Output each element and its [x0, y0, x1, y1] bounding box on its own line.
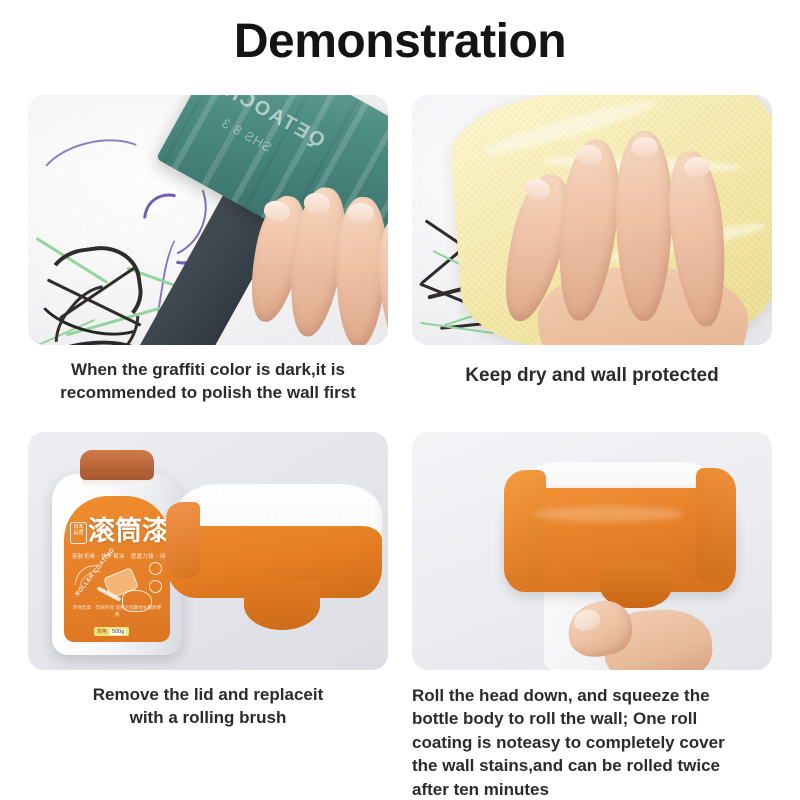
label-footer: 环保无毒 · 无味环保 适用于墙面修补翻新使用 [72, 606, 162, 620]
panel-wipe-caption: Keep dry and wall protected [412, 363, 772, 389]
roller-stem [244, 580, 320, 630]
fingernail [348, 203, 375, 224]
bottle-label: 日本 品质 滚筒漆 亲肤无味 · 快干易涂 · 遮盖力强 · 持久不脱落 ROL… [64, 496, 170, 642]
roller-cradle-lip [504, 470, 546, 588]
label-features: 亲肤无味 · 快干易涂 · 遮盖力强 · 持久不脱落 [72, 552, 164, 560]
roller-cradle-lip [696, 468, 736, 582]
caption-line: after ten minutes [412, 778, 772, 800]
caption-line: Keep dry and wall protected [412, 363, 772, 389]
caption-line: Remove the lid and replaceit [28, 684, 388, 707]
weight-badge: 规格 500g [94, 627, 129, 636]
label-badge: 日本 品质 [70, 522, 87, 544]
panel-wipe-photo [412, 95, 772, 345]
weight-label: 规格 [97, 628, 107, 635]
panel-roll-photo [412, 432, 772, 670]
fingernail [632, 137, 658, 157]
roller-cradle-lip [166, 502, 200, 578]
label-seal-icon [149, 562, 162, 575]
panel-polish-caption: When the graffiti color is dark,it is re… [28, 359, 388, 405]
panel-replace-lid-photo: 日本 品质 滚筒漆 亲肤无味 · 快干易涂 · 遮盖力强 · 持久不脱落 ROL… [28, 432, 388, 670]
panel-polish: QETAOCK SHS 8 3 When the graffiti color … [28, 95, 388, 405]
bottle-cap [80, 450, 154, 480]
demonstration-infographic: Demonstration [0, 0, 800, 800]
hand [560, 584, 710, 670]
paint-bottle: 日本 品质 滚筒漆 亲肤无味 · 快干易涂 · 遮盖力强 · 持久不脱落 ROL… [52, 450, 182, 655]
caption-line: bottle body to roll the wall; One roll [412, 707, 772, 730]
hand [504, 117, 754, 345]
panel-wipe: Keep dry and wall protected [412, 95, 772, 389]
caption-line: recommended to polish the wall first [28, 382, 388, 405]
panel-polish-photo: QETAOCK SHS 8 3 [28, 95, 388, 345]
panel-roll: Roll the head down, and squeeze the bott… [412, 432, 772, 800]
caption-line: coating is noteasy to completely cover [412, 731, 772, 754]
caption-line: When the graffiti color is dark,it is [28, 359, 388, 382]
caption-line: Roll the head down, and squeeze the [412, 684, 772, 707]
hand [252, 187, 388, 345]
panel-replace-lid: 日本 品质 滚筒漆 亲肤无味 · 快干易涂 · 遮盖力强 · 持久不脱落 ROL… [28, 432, 388, 730]
caption-line: with a rolling brush [28, 707, 388, 730]
label-product-name: 滚筒漆 [88, 518, 169, 545]
roller-highlight [534, 506, 684, 522]
caption-line: the wall stains,and can be rolled twice [412, 754, 772, 777]
roller-head [166, 484, 382, 634]
weight-value: 500g [110, 629, 126, 635]
panel-replace-lid-caption: Remove the lid and replaceit with a roll… [28, 684, 388, 730]
label-seal-icon [149, 580, 162, 593]
panel-roll-caption: Roll the head down, and squeeze the bott… [412, 684, 772, 800]
page-title: Demonstration [0, 14, 800, 69]
